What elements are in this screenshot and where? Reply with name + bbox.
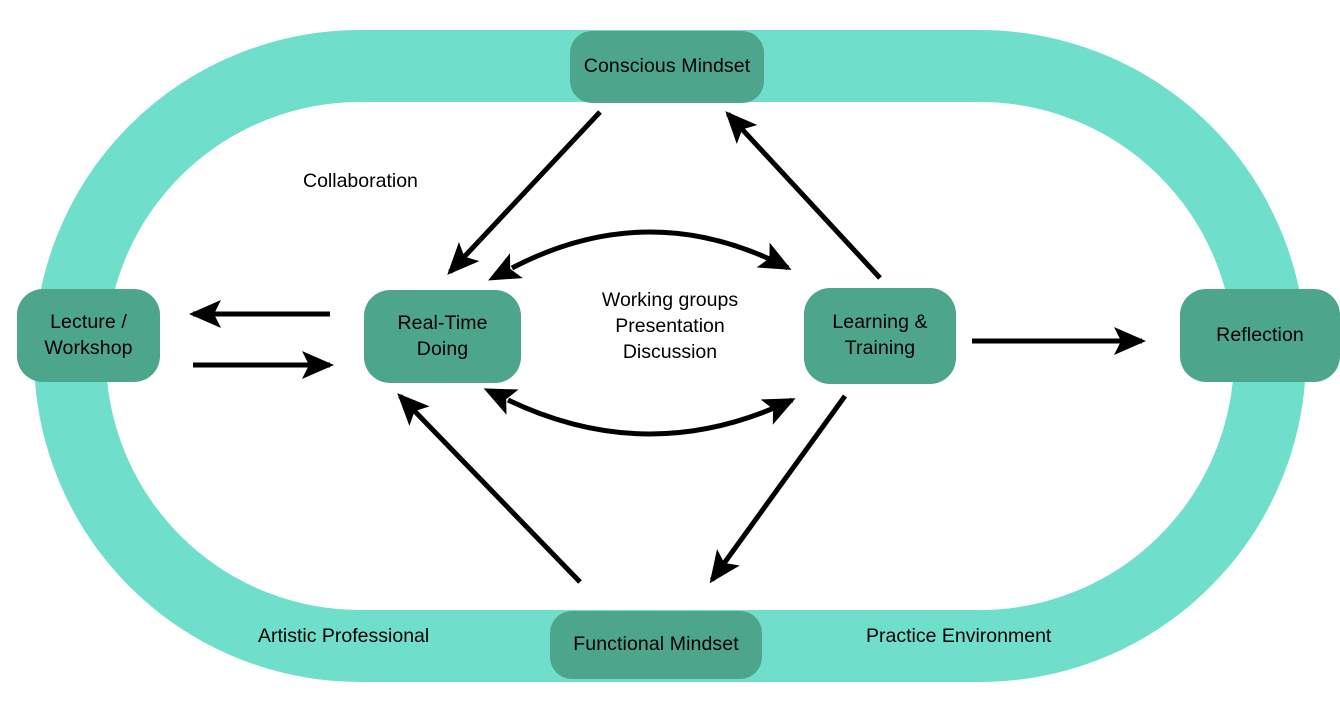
label-collaboration: Collaboration xyxy=(303,168,418,194)
node-learning-training-line1: Learning & xyxy=(832,311,927,333)
node-learning-training-label: Learning & Training xyxy=(832,310,927,361)
node-real-time-doing-label: Real-Time Doing xyxy=(372,311,513,362)
node-reflection-label: Reflection xyxy=(1216,323,1304,349)
arrow-learning-to-conscious xyxy=(728,114,880,278)
node-lecture-workshop[interactable]: Lecture / Workshop xyxy=(17,289,160,382)
node-functional-mindset-label: Functional Mindset xyxy=(573,632,738,658)
arrow-learning-to-functional xyxy=(712,396,845,580)
node-conscious-mindset[interactable]: Conscious Mindset xyxy=(570,31,764,103)
node-reflection[interactable]: Reflection xyxy=(1180,289,1340,382)
node-learning-training-line2: Training xyxy=(845,337,916,359)
node-conscious-mindset-label: Conscious Mindset xyxy=(584,54,750,80)
node-learning-training[interactable]: Learning & Training xyxy=(804,288,956,384)
node-lecture-workshop-label: Lecture / Workshop xyxy=(44,310,132,361)
center-activities-line3: Discussion xyxy=(595,339,745,365)
arrow-lower-exchange xyxy=(508,400,792,434)
arrow-conscious-to-realtime xyxy=(450,112,600,272)
arrow-upper-exchange xyxy=(512,232,788,268)
label-center-activities: Working groups Presentation Discussion xyxy=(595,287,745,365)
label-artistic-professional: Artistic Professional xyxy=(258,623,429,649)
center-activities-line2: Presentation xyxy=(595,313,745,339)
arrow-functional-to-realtime xyxy=(400,396,580,582)
node-lecture-workshop-line2: Workshop xyxy=(44,337,132,359)
node-functional-mindset[interactable]: Functional Mindset xyxy=(550,611,762,679)
node-real-time-doing[interactable]: Real-Time Doing xyxy=(364,290,521,383)
diagram-canvas: Conscious Mindset Lecture / Workshop Rea… xyxy=(0,0,1340,712)
node-lecture-workshop-line1: Lecture / xyxy=(50,311,127,333)
label-practice-environment: Practice Environment xyxy=(866,623,1051,649)
center-activities-line1: Working groups xyxy=(595,287,745,313)
